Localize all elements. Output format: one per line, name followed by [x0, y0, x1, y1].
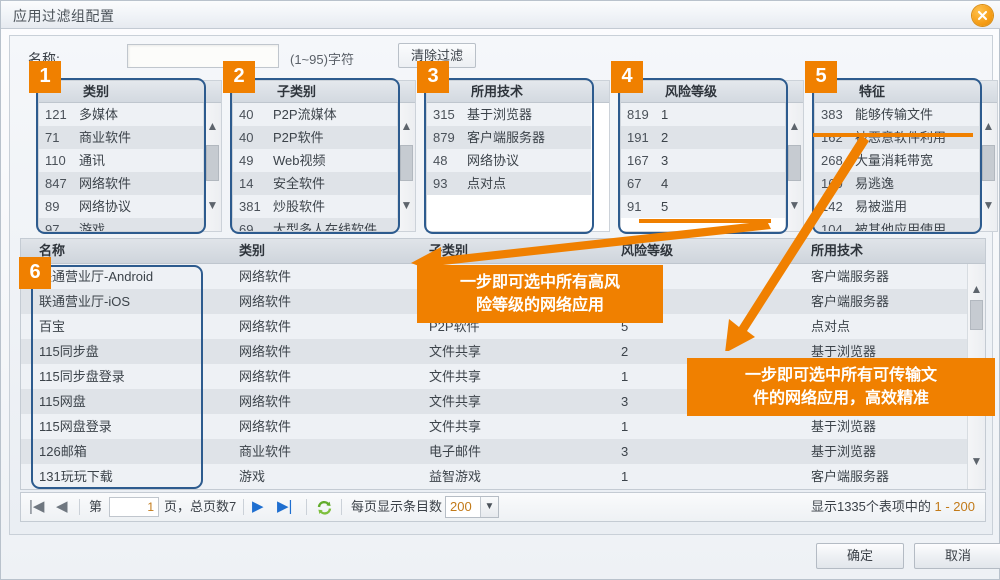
- per-page-value: 200: [450, 497, 472, 517]
- filter-row[interactable]: 674: [621, 172, 785, 195]
- step-badge-4: 4: [611, 61, 643, 93]
- filter-row-name: 安全软件: [273, 172, 397, 195]
- page-prefix-label: 第: [89, 493, 102, 521]
- feature-underline-annotation: [813, 133, 973, 137]
- filter-panel-scrollbar[interactable]: ▲▼: [203, 103, 221, 231]
- callout-risk: 一步即可选中所有高风 险等级的网络应用: [417, 265, 663, 323]
- range-value: 1 - 200: [935, 499, 975, 514]
- window-title: 应用过滤组配置: [13, 6, 115, 26]
- filter-row[interactable]: 121多媒体: [39, 103, 203, 126]
- filter-row-count: 121: [39, 103, 79, 126]
- callout-file-line1: 一步即可选中所有可传输文: [696, 364, 986, 387]
- table-cell-risk: 3: [621, 439, 807, 464]
- filter-row[interactable]: 879客户端服务器: [427, 126, 591, 149]
- filter-panel-header: 特征: [815, 81, 997, 103]
- step-badge-2: 2: [223, 61, 255, 93]
- filter-row-name: 多媒体: [79, 103, 203, 126]
- table-cell-subcategory: 文件共享: [429, 389, 617, 414]
- step-badge-5: 5: [805, 61, 837, 93]
- page-total-label: 页，总页数7: [164, 493, 236, 521]
- filter-panel-group: 类别121多媒体71商业软件110通讯847网络软件89网络协议97游戏▲▼子类…: [20, 80, 986, 232]
- filter-row-name: 2: [661, 126, 785, 149]
- scroll-thumb[interactable]: [982, 145, 995, 181]
- filter-row-name: P2P软件: [273, 126, 397, 149]
- filter-row-name: 通讯: [79, 149, 203, 172]
- filter-row[interactable]: 162被恶意软件利用: [815, 126, 979, 149]
- filter-panel-header: 风险等级: [621, 81, 803, 103]
- filter-row-name: 5: [661, 195, 785, 218]
- scroll-up-icon[interactable]: ▲: [968, 282, 985, 299]
- scroll-up-icon[interactable]: ▲: [980, 119, 997, 136]
- table-cell-name: 115同步盘登录: [39, 364, 235, 389]
- filter-list: 121多媒体71商业软件110通讯847网络软件89网络协议97游戏: [39, 103, 203, 231]
- filter-panel-title: 风险等级: [665, 84, 717, 99]
- divider: [306, 499, 307, 515]
- table-cell-name: 联通营业厅-iOS: [39, 289, 235, 314]
- filter-row[interactable]: 142易被滥用: [815, 195, 979, 218]
- filter-row[interactable]: 48网络协议: [427, 149, 591, 172]
- callout-file: 一步即可选中所有可传输文 件的网络应用，高效精准: [687, 358, 995, 416]
- filter-row-count: 69: [233, 218, 273, 231]
- filter-panel-title: 特征: [859, 84, 885, 99]
- chevron-down-icon[interactable]: ▼: [480, 497, 498, 517]
- filter-row-count: 110: [39, 149, 79, 172]
- filter-panel-2: 子类别40P2P流媒体40P2P软件49Web视频14安全软件381炒股软件69…: [232, 80, 416, 232]
- last-page-icon[interactable]: ▶|: [277, 493, 292, 521]
- filter-row-count: 819: [621, 103, 661, 126]
- filter-row-name: 能够传输文件: [855, 103, 979, 126]
- filter-row-count: 93: [427, 172, 467, 195]
- scroll-down-icon[interactable]: ▼: [786, 198, 803, 215]
- table-cell-name: 115同步盘: [39, 339, 235, 364]
- table-column-header[interactable]: 风险等级: [621, 239, 807, 263]
- filter-row[interactable]: 383能够传输文件: [815, 103, 979, 126]
- table-row[interactable]: 115网盘登录网络软件文件共享1基于浏览器: [21, 414, 967, 439]
- table-cell-name: 联通营业厅-Android: [39, 264, 235, 289]
- table-cell-name: 115网盘登录: [39, 414, 235, 439]
- filter-panel-scrollbar[interactable]: ▲▼: [979, 103, 997, 231]
- filter-panel-title: 类别: [83, 84, 109, 99]
- filter-list: 40P2P流媒体40P2P软件49Web视频14安全软件381炒股软件69大型多…: [233, 103, 397, 231]
- filter-panel-header: 子类别: [233, 81, 415, 103]
- filter-row-name: Web视频: [273, 149, 397, 172]
- filter-row-count: 14: [233, 172, 273, 195]
- table-cell-category: 网络软件: [239, 289, 425, 314]
- filter-row[interactable]: 14安全软件: [233, 172, 397, 195]
- filter-row[interactable]: 104被其他应用使用: [815, 218, 979, 231]
- filter-row[interactable]: 89网络协议: [39, 195, 203, 218]
- filter-row-count: 315: [427, 103, 467, 126]
- table-cell-subcategory: 文件共享: [429, 364, 617, 389]
- filter-panel-3: 所用技术315基于浏览器879客户端服务器48网络协议93点对点: [426, 80, 610, 232]
- callout-risk-line2: 险等级的网络应用: [426, 294, 654, 317]
- table-cell-category: 网络软件: [239, 364, 425, 389]
- table-cell-category: 网络软件: [239, 314, 425, 339]
- dialog-window: 应用过滤组配置 名称: (1~95)字符 清除过滤 类别121多媒体71商业软件…: [0, 0, 1000, 580]
- filter-row-name: 基于浏览器: [467, 103, 591, 126]
- scroll-up-icon[interactable]: ▲: [398, 119, 415, 136]
- table-cell-name: 126邮箱: [39, 439, 235, 464]
- name-input[interactable]: [127, 44, 279, 68]
- filter-row-count: 847: [39, 172, 79, 195]
- filter-row[interactable]: 268大量消耗带宽: [815, 149, 979, 172]
- divider: [79, 499, 80, 515]
- filter-list: 383能够传输文件162被恶意软件利用268大量消耗带宽160易逃逸142易被滥…: [815, 103, 979, 231]
- table-cell-name: 131玩玩下载: [39, 464, 235, 489]
- cancel-button[interactable]: 取消: [914, 543, 1000, 569]
- filter-row-name: 3: [661, 149, 785, 172]
- table-cell-category: 游戏: [239, 464, 425, 489]
- filter-panel-1: 类别121多媒体71商业软件110通讯847网络软件89网络协议97游戏▲▼: [38, 80, 222, 232]
- filter-panel-scrollbar[interactable]: ▲▼: [397, 103, 415, 231]
- page-number-input[interactable]: [109, 497, 159, 517]
- table-cell-subcategory: 电子邮件: [429, 439, 617, 464]
- filter-row-count: 104: [815, 218, 855, 231]
- filter-row[interactable]: 110通讯: [39, 149, 203, 172]
- table-cell-subcategory: 益智游戏: [429, 464, 617, 489]
- filter-panel-header: 类别: [39, 81, 221, 103]
- filter-row-count: 49: [233, 149, 273, 172]
- scroll-up-icon[interactable]: ▲: [786, 119, 803, 136]
- filter-row[interactable]: 40P2P软件: [233, 126, 397, 149]
- filter-row[interactable]: 1912: [621, 126, 785, 149]
- filter-row-name: 易被滥用: [855, 195, 979, 218]
- table-cell-risk: 1: [621, 414, 807, 439]
- table-cell-subcategory: 文件共享: [429, 339, 617, 364]
- filter-row-count: 97: [39, 218, 79, 231]
- filter-row-count: 879: [427, 126, 467, 149]
- table-cell-tech: 客户端服务器: [811, 464, 967, 489]
- filter-row-name: 点对点: [467, 172, 591, 195]
- filter-row-count: 381: [233, 195, 273, 218]
- scroll-thumb[interactable]: [400, 145, 413, 181]
- filter-row[interactable]: 40P2P流媒体: [233, 103, 397, 126]
- filter-row-name: 4: [661, 172, 785, 195]
- first-page-icon[interactable]: |◀: [29, 493, 44, 521]
- filter-row[interactable]: 69大型多人在线软件: [233, 218, 397, 231]
- table-cell-category: 商业软件: [239, 439, 425, 464]
- divider: [243, 499, 244, 515]
- filter-row-count: 142: [815, 195, 855, 218]
- divider: [341, 499, 342, 515]
- filter-row[interactable]: 93点对点: [427, 172, 591, 195]
- filter-row-count: 67: [621, 172, 661, 195]
- ok-button[interactable]: 确定: [816, 543, 904, 569]
- filter-row[interactable]: 315基于浏览器: [427, 103, 591, 126]
- filter-row[interactable]: 1673: [621, 149, 785, 172]
- filter-panel-title: 所用技术: [471, 84, 523, 99]
- filter-row-name: 大型多人在线软件: [273, 218, 397, 231]
- next-page-icon[interactable]: ▶: [252, 493, 264, 521]
- close-circle-icon[interactable]: [972, 5, 993, 26]
- filter-row-count: 383: [815, 103, 855, 126]
- scroll-down-icon[interactable]: ▼: [398, 198, 415, 215]
- scroll-down-icon[interactable]: ▼: [968, 454, 985, 471]
- risk-underline-annotation: [639, 219, 771, 223]
- table-cell-tech: 基于浏览器: [811, 439, 967, 464]
- step-badge-6: 6: [19, 257, 51, 289]
- table-cell-tech: 客户端服务器: [811, 289, 967, 314]
- filter-row-name: 商业软件: [79, 126, 203, 149]
- table-column-header[interactable]: 类别: [239, 239, 425, 263]
- filter-row-name: 大量消耗带宽: [855, 149, 979, 172]
- filter-row-count: 191: [621, 126, 661, 149]
- table-column-header[interactable]: 所用技术: [811, 239, 986, 263]
- pagination-bar: |◀ ◀ 第 页，总页数7 ▶ ▶| 每页显示条目数 200 ▼ 显: [20, 492, 986, 522]
- scroll-thumb[interactable]: [788, 145, 801, 181]
- table-row[interactable]: 126邮箱商业软件电子邮件3基于浏览器: [21, 439, 967, 464]
- filter-row-count: 40: [233, 103, 273, 126]
- filter-row-name: 客户端服务器: [467, 126, 591, 149]
- filter-row[interactable]: 71商业软件: [39, 126, 203, 149]
- filter-row-name: 1: [661, 103, 785, 126]
- table-row[interactable]: 131玩玩下载游戏益智游戏1客户端服务器: [21, 464, 967, 489]
- filter-row-name: P2P流媒体: [273, 103, 397, 126]
- filter-row[interactable]: 160易逃逸: [815, 172, 979, 195]
- table-cell-name: 百宝: [39, 314, 235, 339]
- filter-panel-5: 特征383能够传输文件162被恶意软件利用268大量消耗带宽160易逃逸142易…: [814, 80, 998, 232]
- title-bar: 应用过滤组配置: [1, 1, 1000, 29]
- filter-row-name: 游戏: [79, 218, 203, 231]
- step-badge-1: 1: [29, 61, 61, 93]
- filter-row-count: 160: [815, 172, 855, 195]
- filter-row[interactable]: 49Web视频: [233, 149, 397, 172]
- table-header-row: 名称类别子类别风险等级所用技术: [21, 239, 985, 264]
- filter-row[interactable]: 915: [621, 195, 785, 218]
- table-cell-category: 网络软件: [239, 264, 425, 289]
- refresh-icon[interactable]: [316, 499, 333, 516]
- filter-row-count: 40: [233, 126, 273, 149]
- table-cell-category: 网络软件: [239, 339, 425, 364]
- filter-row[interactable]: 8191: [621, 103, 785, 126]
- filter-row-name: 被恶意软件利用: [855, 126, 979, 149]
- scroll-down-icon[interactable]: ▼: [204, 198, 221, 215]
- filter-row-count: 91: [621, 195, 661, 218]
- filter-row-count: 162: [815, 126, 855, 149]
- filter-row-count: 71: [39, 126, 79, 149]
- filter-row[interactable]: 847网络软件: [39, 172, 203, 195]
- filter-row[interactable]: 381炒股软件: [233, 195, 397, 218]
- filter-row-name: 被其他应用使用: [855, 218, 979, 231]
- filter-row-count: 89: [39, 195, 79, 218]
- char-hint: (1~95)字符: [290, 49, 354, 68]
- close-icon-glyph: [976, 9, 989, 22]
- table-cell-subcategory: 文件共享: [429, 414, 617, 439]
- range-prefix: 显示1335个表项中的: [811, 499, 931, 514]
- filter-row-count: 48: [427, 149, 467, 172]
- filter-panel-header: 所用技术: [427, 81, 609, 103]
- filter-panel-scrollbar[interactable]: ▲▼: [785, 103, 803, 231]
- table-cell-category: 网络软件: [239, 389, 425, 414]
- table-column-header[interactable]: 子类别: [429, 239, 617, 263]
- scroll-thumb[interactable]: [970, 300, 983, 330]
- filter-row-name: 网络协议: [467, 149, 591, 172]
- filter-list: 819119121673674915: [621, 103, 785, 231]
- callout-risk-line1: 一步即可选中所有高风: [426, 271, 654, 294]
- filter-row-count: 167: [621, 149, 661, 172]
- callout-file-line2: 件的网络应用，高效精准: [696, 387, 986, 410]
- table-cell-name: 115网盘: [39, 389, 235, 414]
- filter-list: 315基于浏览器879客户端服务器48网络协议93点对点: [427, 103, 591, 231]
- filter-panel-title: 子类别: [277, 84, 316, 99]
- filter-row-name: 炒股软件: [273, 195, 397, 218]
- filter-panel-4: 风险等级819119121673674915▲▼: [620, 80, 804, 232]
- filter-row[interactable]: 97游戏: [39, 218, 203, 231]
- table-column-header[interactable]: 名称: [39, 239, 235, 263]
- table-cell-tech: 基于浏览器: [811, 414, 967, 439]
- scroll-up-icon[interactable]: ▲: [204, 119, 221, 136]
- scroll-down-icon[interactable]: ▼: [980, 198, 997, 215]
- filter-row-name: 易逃逸: [855, 172, 979, 195]
- table-cell-category: 网络软件: [239, 414, 425, 439]
- prev-page-icon[interactable]: ◀: [56, 493, 68, 521]
- filter-row-name: 网络协议: [79, 195, 203, 218]
- table-cell-tech: 点对点: [811, 314, 967, 339]
- table-cell-tech: 客户端服务器: [811, 264, 967, 289]
- filter-row-name: 网络软件: [79, 172, 203, 195]
- step-badge-3: 3: [417, 61, 449, 93]
- range-info: 显示1335个表项中的 1 - 200: [811, 493, 975, 521]
- per-page-label: 每页显示条目数: [351, 493, 442, 521]
- table-cell-risk: 1: [621, 464, 807, 489]
- filter-row-count: 268: [815, 149, 855, 172]
- scroll-thumb[interactable]: [206, 145, 219, 181]
- per-page-select[interactable]: 200 ▼: [445, 496, 499, 518]
